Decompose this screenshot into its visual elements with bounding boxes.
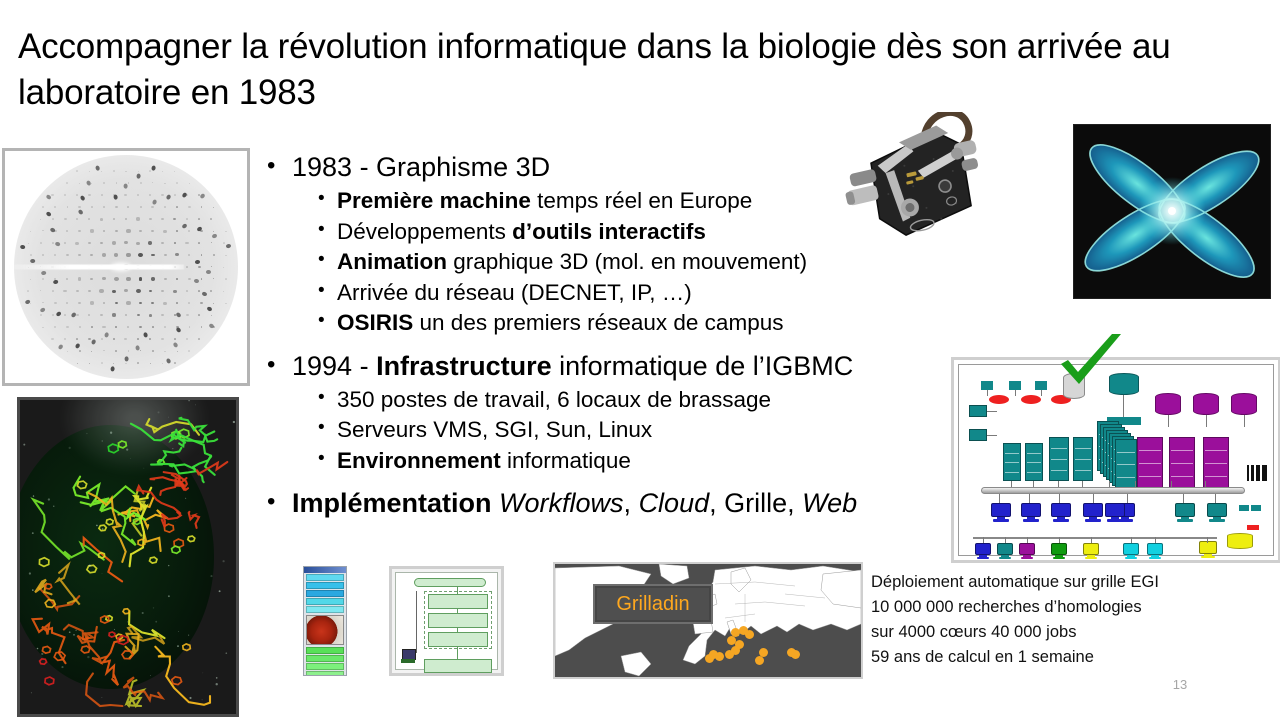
- bullet-content: • 1983 - Graphisme 3D • Première machine…: [262, 150, 962, 522]
- flow-arrow: [457, 647, 458, 659]
- bullet-arrivee-reseau: • Arrivée du réseau (DECNET, IP, …): [262, 278, 962, 308]
- bullet-marker: •: [318, 216, 325, 245]
- egi-line: 10 000 000 recherches d’homologies: [871, 595, 1271, 620]
- grilladin-label: Grilladin: [616, 594, 689, 614]
- bullet-marker: •: [318, 307, 325, 336]
- bullet-text: temps réel en Europe: [531, 188, 752, 213]
- bullet-premiere-machine: • Première machine temps réel en Europe: [262, 186, 962, 216]
- flow-node-orfs: [428, 594, 488, 609]
- bullet-environnement: • Environnement informatique: [262, 446, 962, 476]
- bullet-text: 350 postes de travail, 6 locaux de brass…: [337, 387, 771, 412]
- egi-deployment-note: Déploiement automatique sur grille EGI 1…: [871, 570, 1271, 670]
- molecule-wireframe-svg: [20, 400, 236, 714]
- bullet-text: graphique 3D (mol. en mouvement): [447, 249, 807, 274]
- bullet-text-italic: Workflows: [499, 488, 624, 518]
- bullet-osiris: • OSIRIS un des premiers réseaux de camp…: [262, 308, 962, 338]
- flow-node-start: [414, 578, 486, 587]
- bullet-marker: •: [318, 384, 325, 413]
- flow-arrow: [457, 587, 458, 594]
- egi-line: sur 4000 cœurs 40 000 jobs: [871, 620, 1271, 645]
- group-spacer: [262, 339, 962, 349]
- bullet-text-bold: Infrastructure: [376, 351, 552, 381]
- bullet-marker: •: [267, 149, 275, 183]
- flowchart-frame: [395, 572, 498, 670]
- bullet-marker: •: [318, 414, 325, 443]
- bullet-marker: •: [318, 277, 325, 306]
- egi-line: 59 ans de calcul en 1 semaine: [871, 645, 1271, 670]
- x-ray-diffraction-image: [2, 148, 250, 386]
- bullet-marker: •: [318, 445, 325, 474]
- pipeline-flowchart-thumbnail: [389, 566, 504, 676]
- bullet-developpements: • Développements d’outils interactifs: [262, 217, 962, 247]
- diffraction-beam-streak: [9, 265, 184, 270]
- bullet-text: , Grille,: [709, 488, 802, 518]
- bullet-text: 1983 - Graphisme 3D: [292, 152, 550, 182]
- bullet-text-bold: Animation: [337, 249, 447, 274]
- bullet-implementation: • Implémentation Workflows, Cloud, Grill…: [262, 486, 962, 521]
- bullet-text: informatique: [501, 448, 631, 473]
- bullet-marker: •: [267, 348, 275, 382]
- thumbnail-rows: [304, 574, 346, 676]
- bullet-text-italic: Cloud: [639, 488, 710, 518]
- flow-node-database: [428, 613, 488, 628]
- flow-node-output: [424, 659, 492, 673]
- bullet-1983-heading: • 1983 - Graphisme 3D: [262, 150, 962, 185]
- diffraction-beam-center: [111, 263, 131, 271]
- flow-node-alignment: [428, 632, 488, 647]
- bullet-serveurs: • Serveurs VMS, SGI, Sun, Linux: [262, 415, 962, 445]
- thumbnail-titlebar: [304, 567, 346, 573]
- bullet-text-bold: OSIRIS: [337, 310, 413, 335]
- bullet-text-bold: Implémentation: [292, 488, 499, 518]
- diagram-caption: [965, 370, 966, 373]
- bullet-text: Arrivée du réseau (DECNET, IP, …): [337, 280, 692, 305]
- bullet-text-bold: Environnement: [337, 448, 501, 473]
- flow-arrow: [457, 628, 458, 632]
- flow-server-icon: [401, 659, 415, 663]
- bullet-text: un des premiers réseaux de campus: [413, 310, 783, 335]
- bullet-text-bold: Première machine: [337, 188, 531, 213]
- bullet-marker: •: [318, 185, 325, 214]
- green-check-icon: [1055, 332, 1127, 394]
- bullet-animation: • Animation graphique 3D (mol. en mouvem…: [262, 247, 962, 277]
- egi-line: Déploiement automatique sur grille EGI: [871, 570, 1271, 595]
- grilladin-map: Grilladin: [553, 562, 863, 679]
- web-form-thumbnail: [303, 566, 347, 676]
- bullet-text: informatique de l’IGBMC: [552, 351, 854, 381]
- bullet-text-bold: d’outils interactifs: [512, 219, 706, 244]
- grilladin-badge: Grilladin: [593, 584, 713, 624]
- bullet-350-postes: • 350 postes de travail, 6 locaux de bra…: [262, 385, 962, 415]
- teal-orbital-image: [1073, 124, 1271, 299]
- page-title: Accompagner la révolution informatique d…: [18, 24, 1268, 115]
- slide-canvas: Accompagner la révolution informatique d…: [0, 0, 1280, 720]
- bullet-text-italic: Web: [802, 488, 857, 518]
- bullet-text: Développements: [337, 219, 512, 244]
- bullet-marker: •: [267, 485, 275, 519]
- bullet-text: 1994 -: [292, 351, 376, 381]
- bullet-marker: •: [318, 246, 325, 275]
- bullet-text: ,: [624, 488, 639, 518]
- flow-side-line: [416, 591, 417, 653]
- bullet-text: Serveurs VMS, SGI, Sun, Linux: [337, 417, 652, 442]
- bullet-1994-heading: • 1994 - Infrastructure informatique de …: [262, 349, 962, 384]
- slide-number: 13: [1160, 677, 1200, 692]
- molecular-graphics-image: [17, 397, 239, 717]
- group-spacer: [262, 476, 962, 486]
- flow-arrow: [457, 609, 458, 613]
